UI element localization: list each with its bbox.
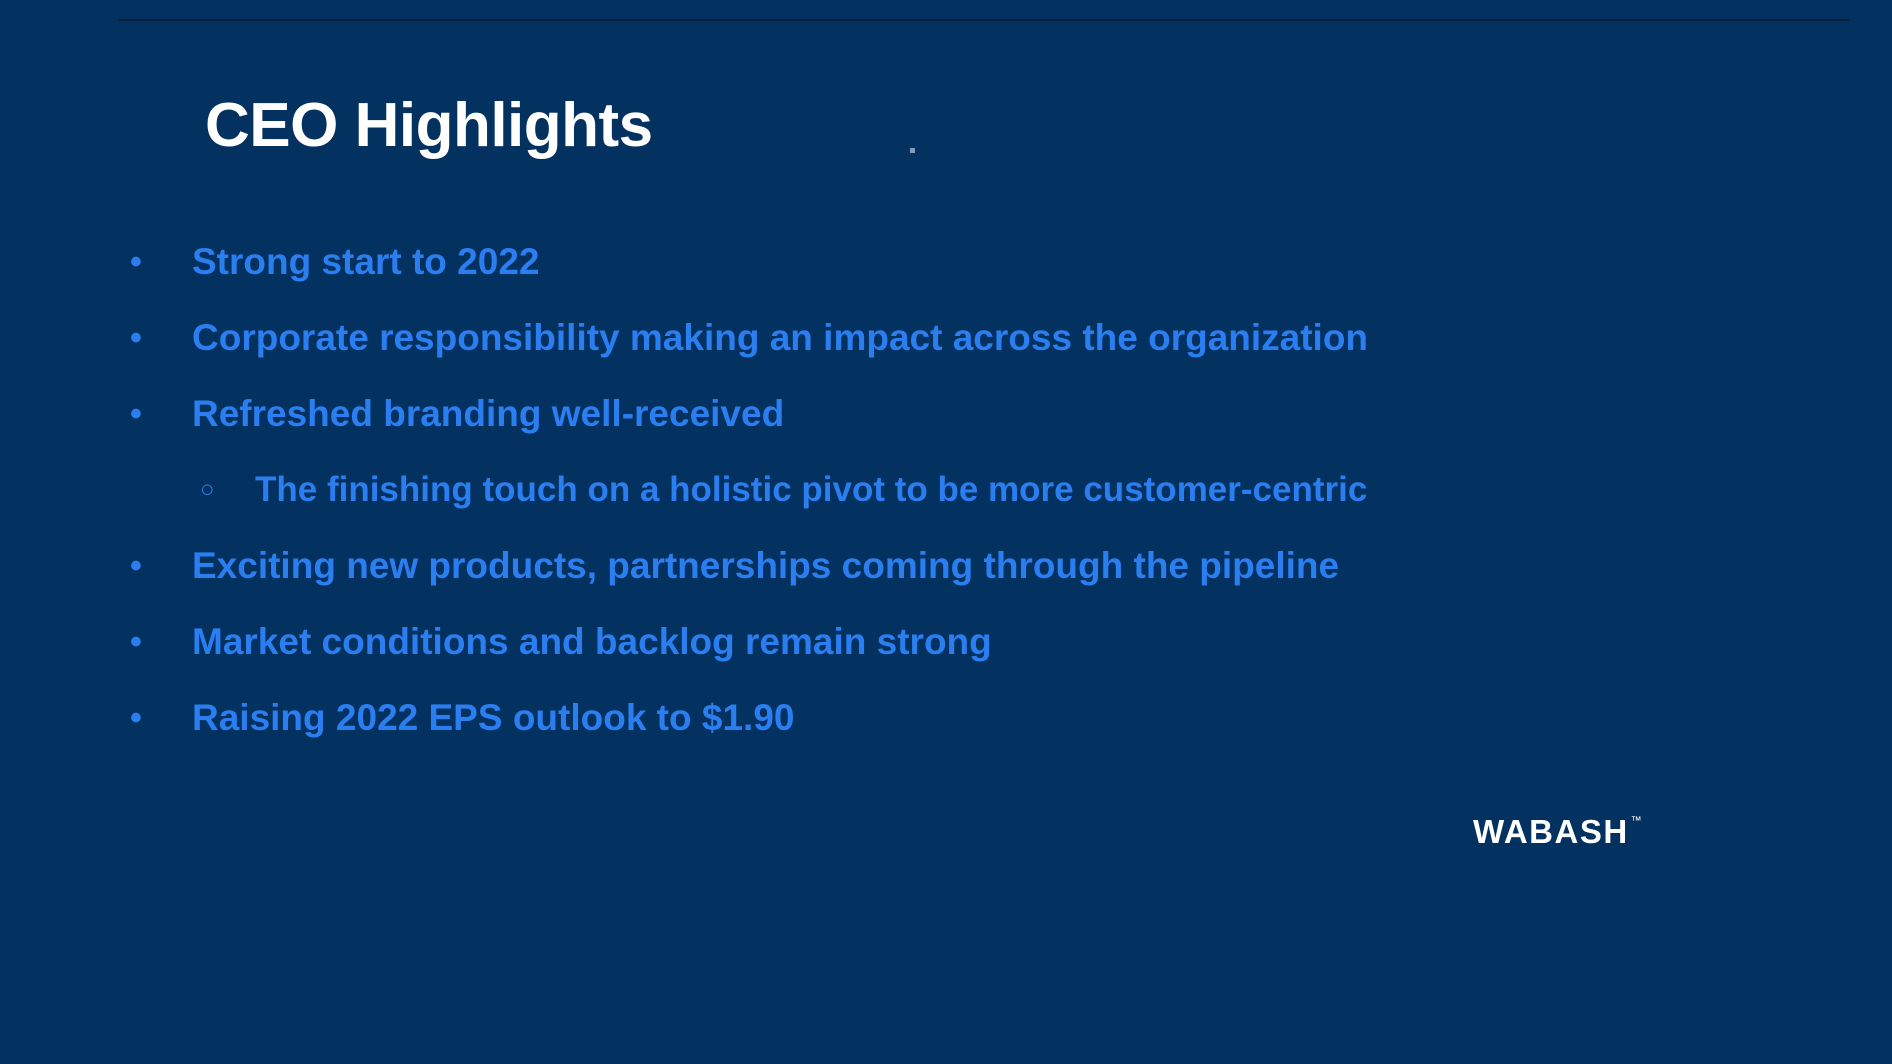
bullet-text: Market conditions and backlog remain str… xyxy=(192,620,992,664)
bullet-marker-icon: • xyxy=(130,392,192,436)
bullet-list: •Strong start to 2022•Corporate responsi… xyxy=(130,240,1830,772)
sub-bullet-marker-icon: ○ xyxy=(200,468,255,512)
header-divider-rule xyxy=(118,19,1850,21)
bullet-item: •Corporate responsibility making an impa… xyxy=(130,316,1830,392)
logo-wordmark: WABASH xyxy=(1473,815,1629,848)
slide-canvas: CEO Highlights •Strong start to 2022•Cor… xyxy=(0,0,1892,1064)
wabash-logo: WABASH ™ xyxy=(1473,815,1642,848)
bullet-text: Exciting new products, partnerships comi… xyxy=(192,544,1339,588)
bullet-item: •Exciting new products, partnerships com… xyxy=(130,544,1830,620)
bullet-text: Strong start to 2022 xyxy=(192,240,539,284)
bullet-item: •Refreshed branding well-received xyxy=(130,392,1830,468)
bullet-text: The finishing touch on a holistic pivot … xyxy=(255,468,1367,512)
bullet-marker-icon: • xyxy=(130,544,192,588)
bullet-marker-icon: • xyxy=(130,696,192,740)
bullet-marker-icon: • xyxy=(130,316,192,360)
bullet-item: •Strong start to 2022 xyxy=(130,240,1830,316)
bullet-item: ○The finishing touch on a holistic pivot… xyxy=(130,468,1830,544)
trademark-icon: ™ xyxy=(1631,816,1642,827)
bullet-text: Raising 2022 EPS outlook to $1.90 xyxy=(192,696,794,740)
stray-period-mark xyxy=(910,148,915,153)
bullet-text: Corporate responsibility making an impac… xyxy=(192,316,1368,360)
bullet-item: •Raising 2022 EPS outlook to $1.90 xyxy=(130,696,1830,772)
bullet-marker-icon: • xyxy=(130,240,192,284)
page-title: CEO Highlights xyxy=(205,95,653,157)
bullet-text: Refreshed branding well-received xyxy=(192,392,784,436)
bullet-item: •Market conditions and backlog remain st… xyxy=(130,620,1830,696)
bullet-marker-icon: • xyxy=(130,620,192,664)
